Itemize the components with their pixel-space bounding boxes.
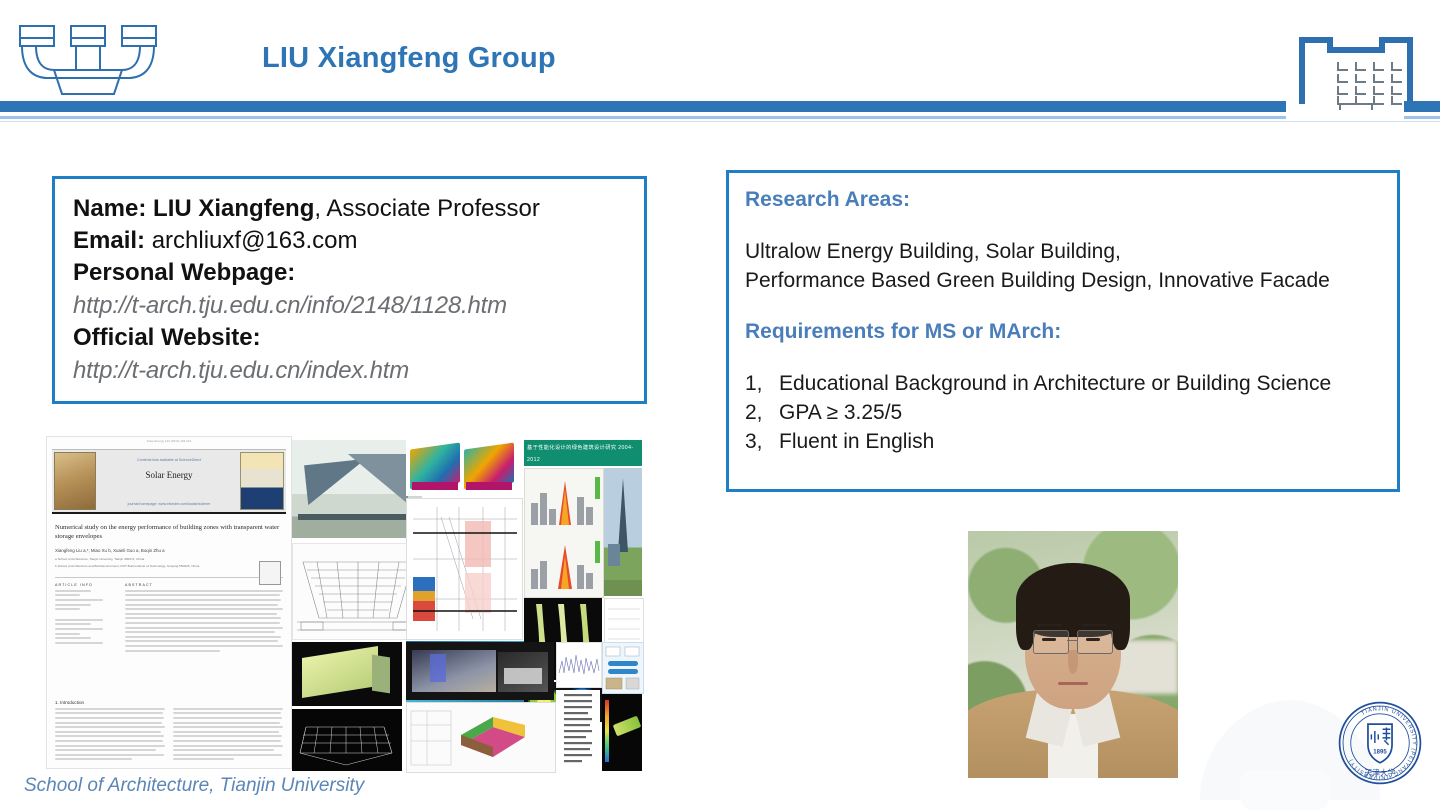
contact-info-box: Name: LIU Xiangfeng, Associate Professor…: [52, 176, 647, 404]
portrait-glasses-left-lens: [1033, 630, 1069, 654]
header-band-thin-left: [0, 116, 1286, 119]
page-title: LIU Xiangfeng Group: [262, 42, 556, 75]
seal-chinese-name: 天津大学: [1365, 768, 1396, 778]
seal-year: 1895: [1373, 749, 1387, 755]
research-image-collage: 基于性能化设计的绿色建筑设计研究 2004-2012: [292, 436, 642, 781]
requirement-item: 1,Educational Background in Architecture…: [745, 369, 1397, 398]
construction-detail-drawing: [406, 498, 523, 640]
portrait-glasses-bridge: [1067, 640, 1078, 641]
tianjin-university-gate-logo: [14, 18, 162, 100]
official-website-link[interactable]: http://t-arch.tju.edu.cn/index.htm: [73, 354, 644, 387]
footer-school-name: School of Architecture, Tianjin Universi…: [24, 775, 364, 797]
name-label: Name:: [73, 195, 146, 222]
thermal-model-pair: [406, 440, 521, 496]
portrait-eyebrow-right: [1081, 624, 1106, 627]
journal-cover-thumb-left: [54, 452, 96, 510]
requirement-number: 2,: [745, 398, 779, 427]
museum-exterior-rendering: [292, 440, 422, 538]
email-label: Email:: [73, 227, 145, 254]
portrait-eye-right: [1086, 638, 1101, 641]
spacer: [745, 295, 1397, 317]
header-band-thin-right: [1404, 116, 1440, 119]
requirement-text: Educational Background in Architecture o…: [779, 372, 1331, 395]
paper-introduction-section: 1. Introduction: [55, 700, 283, 763]
research-and-requirements-box: Research Areas: Ultralow Energy Building…: [726, 170, 1400, 492]
personal-webpage-label: Personal Webpage:: [73, 257, 644, 289]
name-line: Name: LIU Xiangfeng, Associate Professor: [73, 193, 644, 225]
paper-affiliation-2: b School of Architecture and Built Envir…: [55, 564, 283, 568]
requirements-heading: Requirements for MS or MArch:: [745, 317, 1397, 347]
banner-text: 基于性能化设计的绿色建筑设计研究 2004-2012: [524, 440, 642, 466]
paper-abstract-columns: ARTICLE INFO ABSTRACT: [55, 583, 283, 654]
portrait-glasses-right-lens: [1077, 630, 1113, 654]
requirement-number: 3,: [745, 427, 779, 456]
paper-authors: Xiangfeng Liu a,*, Miao Xu b, Xuanli Guo…: [55, 547, 283, 554]
slide-header: LIU Xiangfeng Group: [0, 0, 1440, 128]
header-band-left: [0, 101, 1286, 112]
duct-cfd-visualization: [602, 694, 642, 771]
sciencedirect-line: Contents lists available at ScienceDirec…: [108, 458, 230, 462]
wireframe-structure-model: [292, 709, 402, 771]
introduction-heading: 1. Introduction: [55, 700, 283, 705]
article-info-heading: ARTICLE INFO: [55, 583, 117, 587]
seal-emblem-characters: [1371, 728, 1390, 745]
journal-cover-thumb-right: [240, 452, 284, 510]
requirement-text: Fluent in English: [779, 430, 934, 453]
abstract-column: ABSTRACT: [125, 583, 283, 654]
paper-top-citation: Solar Energy 123 (2016) 206-216: [53, 439, 285, 446]
project-banner-cn: 基于性能化设计的绿色建筑设计研究 2004-2012: [524, 440, 642, 466]
requirement-text: GPA ≥ 3.25/5: [779, 401, 902, 424]
requirement-item: 2,GPA ≥ 3.25/5: [745, 398, 1397, 427]
research-area-line-2: Performance Based Green Building Design,…: [745, 266, 1397, 295]
time-series-plot: [556, 642, 602, 688]
school-of-architecture-building-logo: [1286, 26, 1426, 110]
tower-rendering: [604, 468, 642, 596]
email-value: archliuxf@163.com: [152, 227, 358, 254]
requirement-number: 1,: [745, 369, 779, 398]
official-website-label: Official Website:: [73, 322, 644, 354]
crossmark-badge: [259, 561, 281, 585]
divider: [55, 577, 283, 578]
green-building-model: [292, 642, 402, 706]
chinese-caption-block: [556, 690, 600, 771]
header-hairline: [0, 121, 1440, 122]
requirement-item: 3,Fluent in English: [745, 427, 1397, 456]
portrait-mouth: [1058, 682, 1087, 685]
tianjin-university-seal: TIANJIN UNIVERSITY (PEIYANG UNIVERSITY) …: [1337, 700, 1423, 786]
paper-title: Numerical study on the energy performanc…: [55, 523, 283, 541]
cad-plan-and-massing: [406, 702, 556, 773]
email-line: Email: archliuxf@163.com: [73, 225, 644, 257]
portrait-hair-side-right: [1111, 595, 1130, 649]
personal-webpage-link[interactable]: http://t-arch.tju.edu.cn/info/2148/1128.…: [73, 289, 644, 322]
spacer: [745, 215, 1397, 237]
paper-masthead: Contents lists available at ScienceDirec…: [52, 449, 286, 514]
journal-name: Solar Energy: [108, 470, 230, 480]
night-render-panel: [406, 642, 554, 700]
journal-paper-thumbnail: Solar Energy 123 (2016) 206-216 Contents…: [46, 436, 292, 769]
research-areas-heading: Research Areas:: [745, 185, 1397, 215]
system-flow-diagram: [602, 642, 644, 694]
portrait-eye-left: [1042, 638, 1057, 641]
article-info-column: ARTICLE INFO: [55, 583, 117, 654]
header-band-right: [1404, 101, 1440, 112]
spacer: [745, 347, 1397, 369]
journal-homepage-line: journal homepage: www.elsevier.com/locat…: [108, 502, 230, 506]
energy-bar-chart-panel: [524, 468, 604, 598]
name-suffix: , Associate Professor: [314, 195, 539, 222]
name-value: LIU Xiangfeng: [153, 195, 314, 222]
section-drawing: [292, 543, 424, 640]
portrait-eyebrow-left: [1037, 624, 1062, 627]
paper-affiliation-1: a School of Architecture, Tianjin Univer…: [55, 557, 283, 561]
research-area-line-1: Ultralow Energy Building, Solar Building…: [745, 237, 1397, 266]
